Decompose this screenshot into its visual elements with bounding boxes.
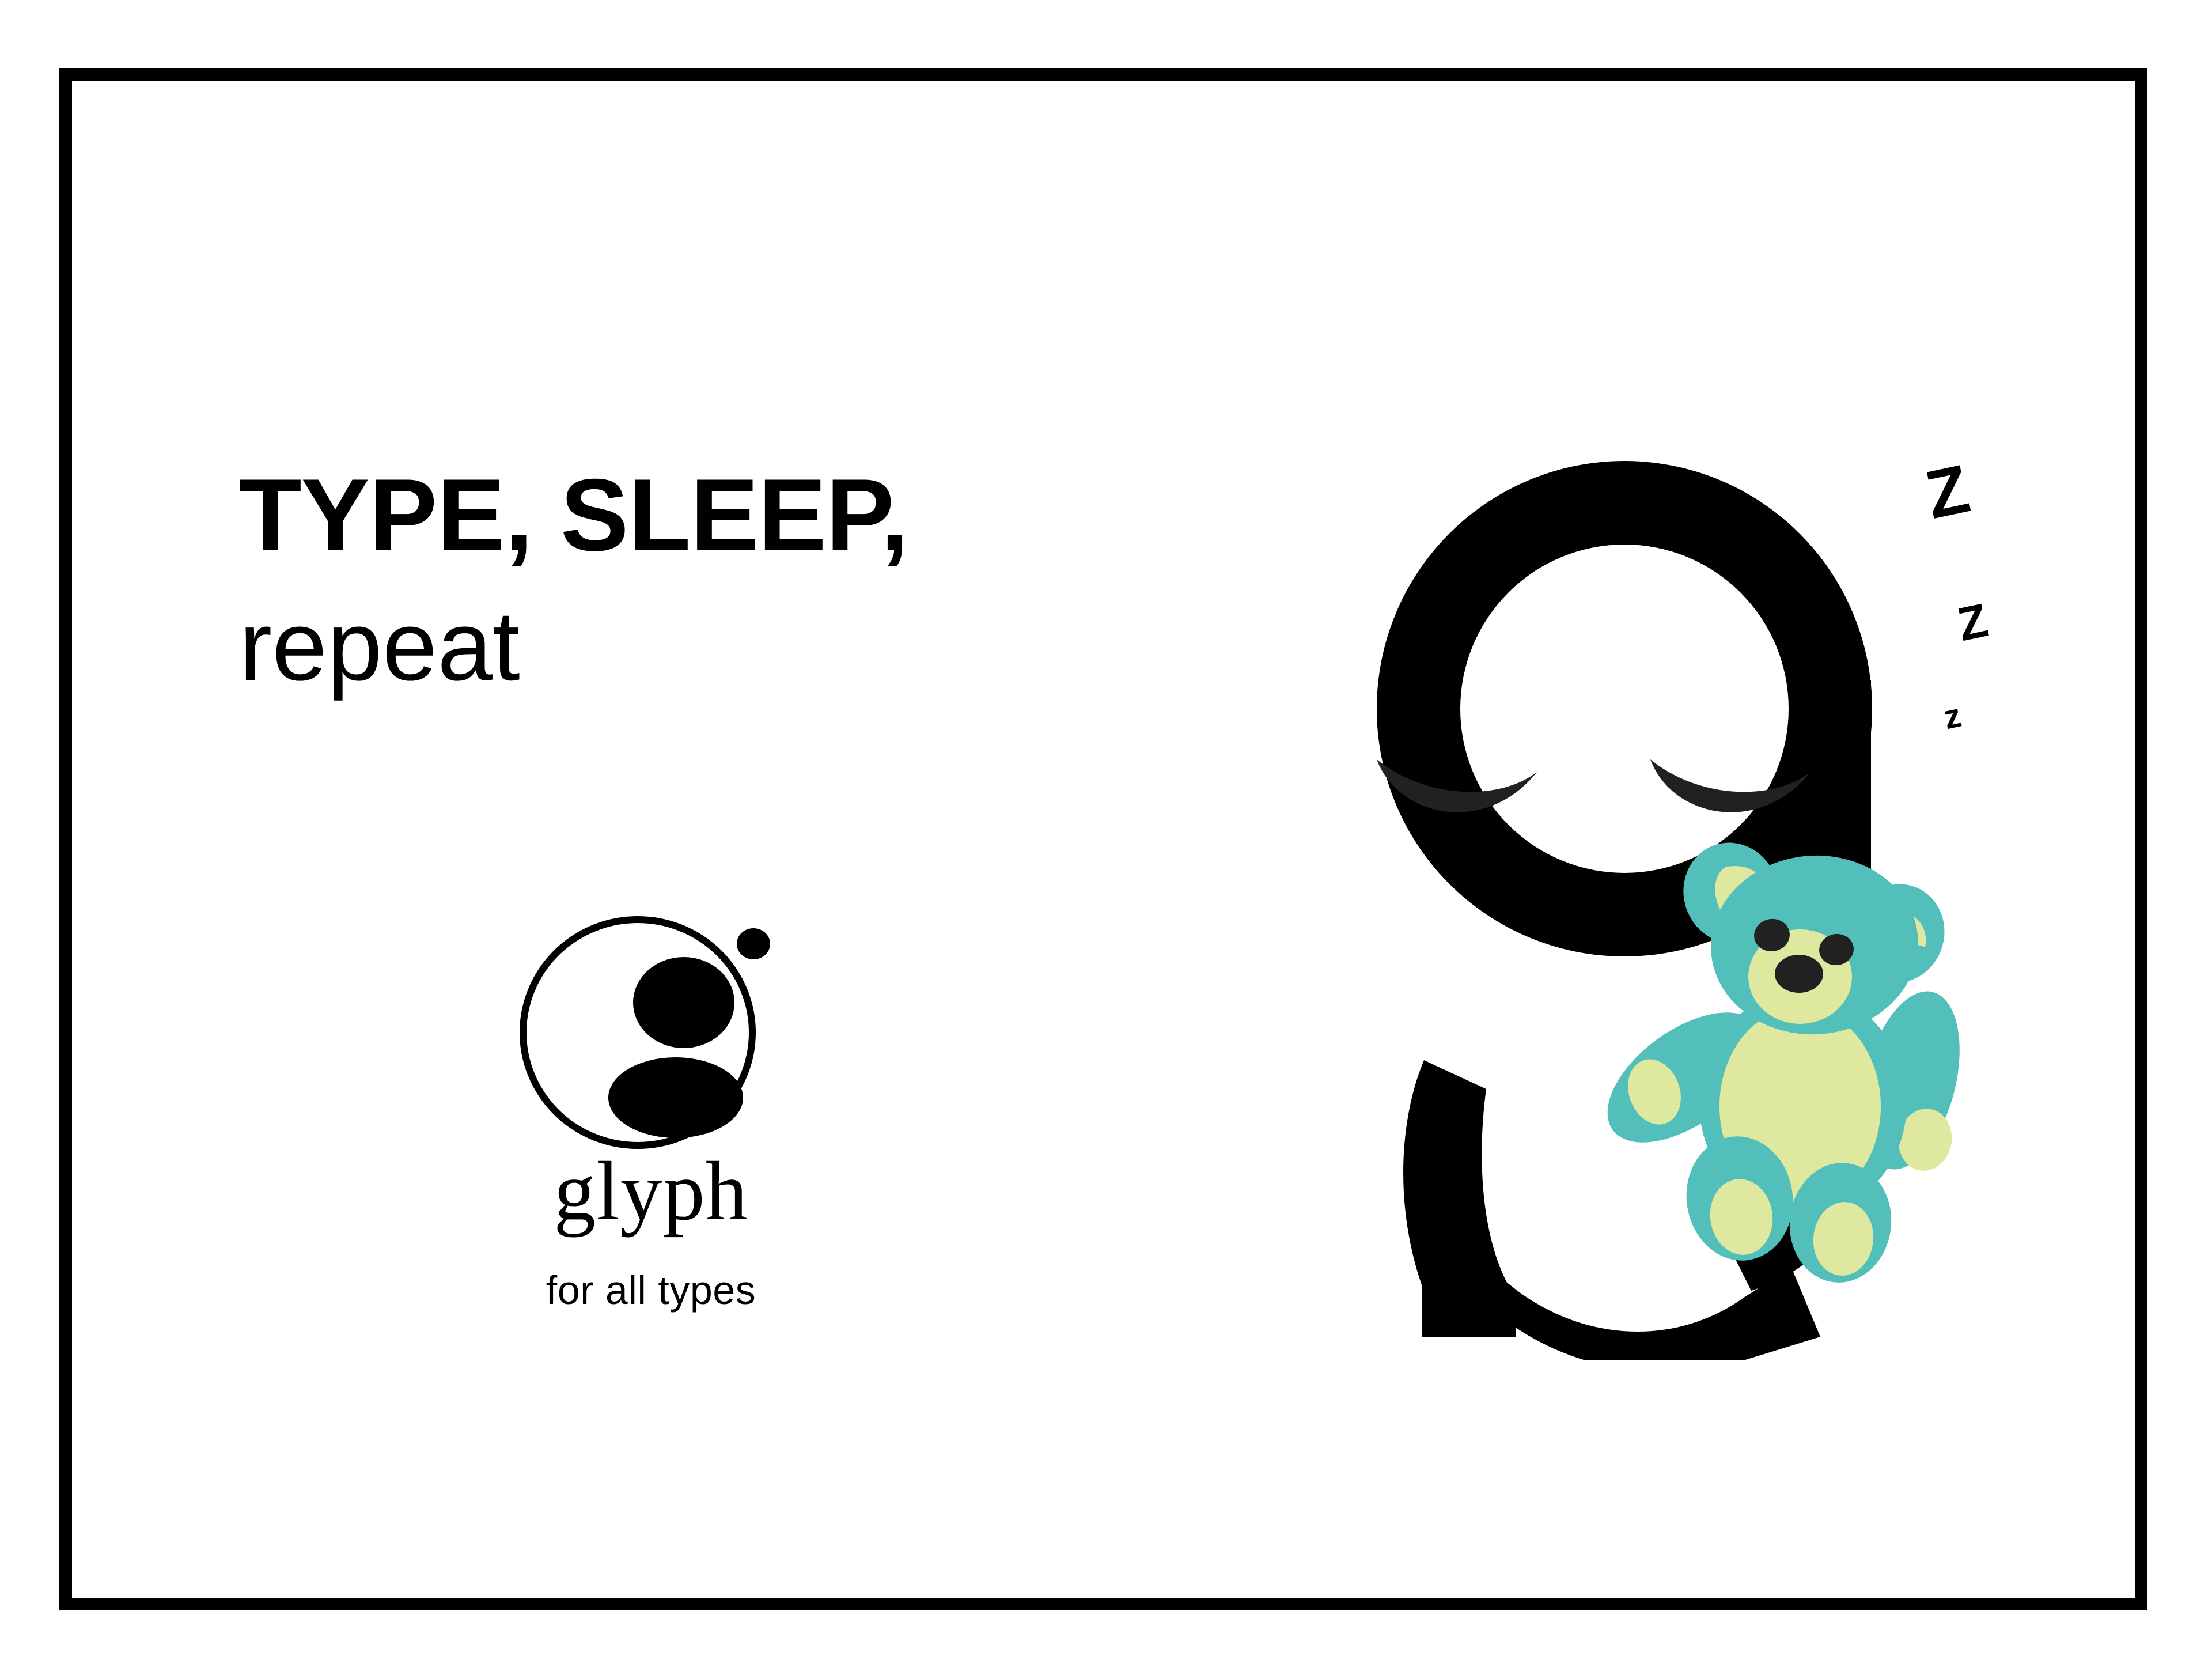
logo-lower-dot bbox=[608, 1057, 743, 1138]
bear-nose bbox=[1775, 955, 1823, 993]
illustration-svg bbox=[1164, 438, 2085, 1360]
headline-line-two: repeat bbox=[239, 596, 1103, 695]
brand-logo-lockup: glyph for all types bbox=[484, 910, 818, 1310]
glyph-logo-svg bbox=[516, 910, 786, 1152]
brand-wordmark: glyph bbox=[484, 1149, 818, 1233]
sleeping-q-illustration bbox=[1164, 438, 2085, 1360]
glyph-circle-logo-icon bbox=[516, 910, 786, 1152]
poster-canvas: TYPE, SLEEP, repeat glyph for all types bbox=[0, 0, 2212, 1675]
brand-tagline: for all types bbox=[484, 1270, 818, 1310]
logo-upper-dot bbox=[633, 957, 734, 1048]
headline-block: TYPE, SLEEP, repeat bbox=[239, 464, 1103, 695]
logo-satellite-dot bbox=[737, 928, 770, 959]
headline-line-one: TYPE, SLEEP, bbox=[239, 464, 1103, 566]
